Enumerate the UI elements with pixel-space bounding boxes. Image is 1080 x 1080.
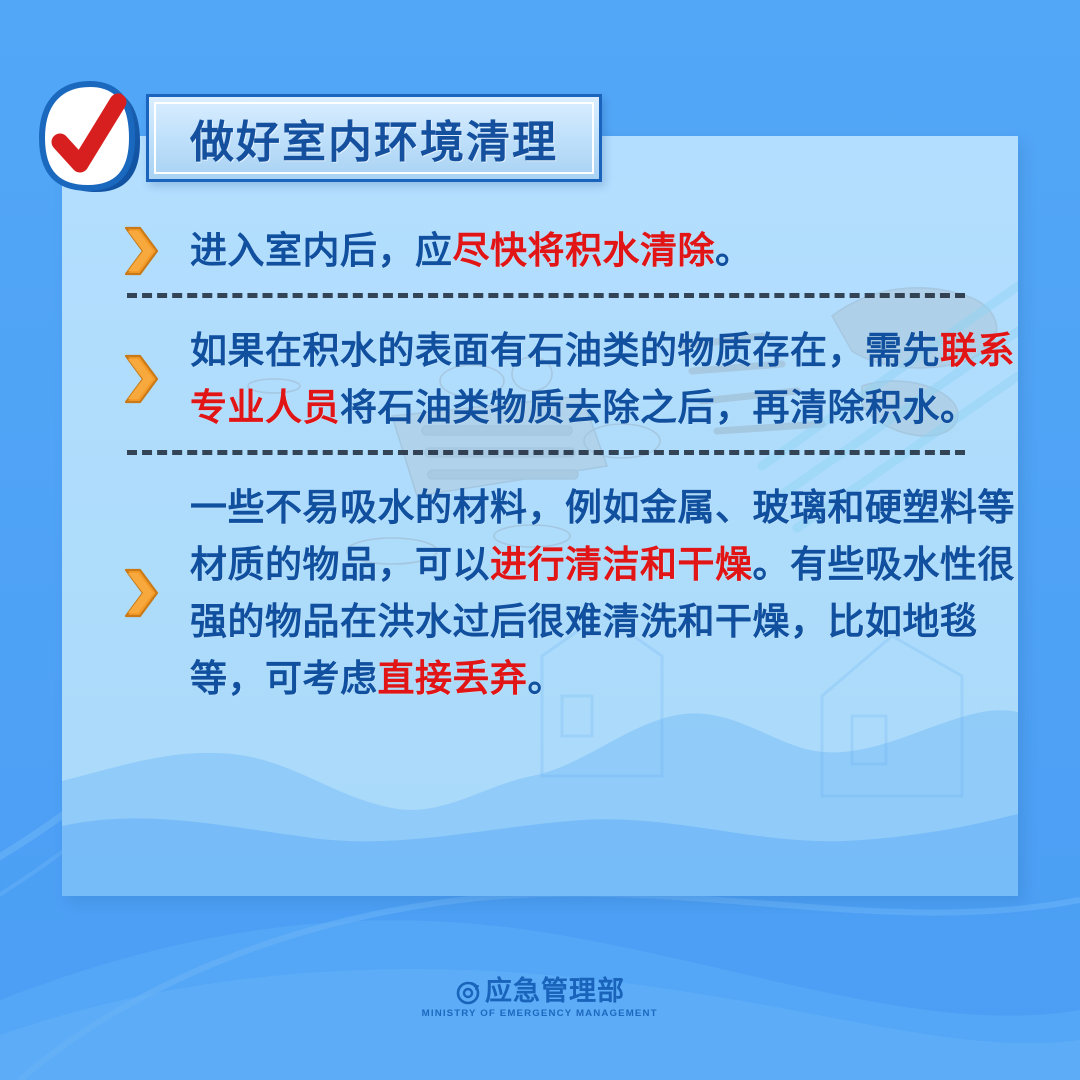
bullet-2-seg-0: 如果在积水的表面有石油类的物质存在，需先 (190, 330, 940, 371)
divider-1 (127, 293, 965, 298)
bullet-3-seg-3: 直接丢弃 (378, 658, 528, 699)
poster-root: 做好室内环境清理 进入室内后，应尽快将积水清除。 如果在积水的表面有石油类的物质… (0, 0, 1080, 1080)
bullet-text-3: 一些不易吸水的材料，例如金属、玻璃和硬塑料等材质的物品，可以进行清洁和干燥。有些… (190, 479, 1018, 707)
bullet-2-seg-2: 将石油类物质去除之后，再清除积水。 (340, 387, 978, 428)
page-title: 做好室内环境清理 (149, 97, 599, 179)
title-banner: 做好室内环境清理 (146, 94, 602, 182)
logo-org-name-en: MINISTRY OF EMERGENCY MANAGEMENT (422, 1008, 658, 1019)
footer-logo: 应急管理部 MINISTRY OF EMERGENCY MANAGEMENT (0, 978, 1080, 1019)
chevron-right-icon (120, 353, 160, 405)
logo-wordmark: 应急管理部 (455, 978, 625, 1005)
bullet-3-seg-4: 。 (528, 658, 566, 699)
chevron-right-icon (120, 567, 160, 619)
bullet-1-seg-2: 。 (715, 230, 753, 271)
at-symbol-icon (455, 979, 481, 1005)
red-check-badge-icon (36, 80, 144, 198)
chevron-right-icon (120, 225, 160, 277)
bullet-1-seg-1: 尽快将积水清除 (453, 230, 716, 271)
logo-org-name: 应急管理部 (485, 978, 625, 1005)
bullet-list: 进入室内后，应尽快将积水清除。 如果在积水的表面有石油类的物质存在，需先联系专业… (62, 196, 1018, 707)
list-item: 一些不易吸水的材料，例如金属、玻璃和硬塑料等材质的物品，可以进行清洁和干燥。有些… (62, 469, 1018, 707)
bullet-1-seg-0: 进入室内后，应 (190, 230, 453, 271)
list-item: 如果在积水的表面有石油类的物质存在，需先联系专业人员将石油类物质去除之后，再清除… (62, 312, 1018, 436)
bullet-text-1: 进入室内后，应尽快将积水清除。 (190, 222, 1018, 279)
divider-2 (127, 450, 965, 455)
bullet-3-seg-1: 进行清洁和干燥 (490, 544, 753, 585)
bullet-text-2: 如果在积水的表面有石油类的物质存在，需先联系专业人员将石油类物质去除之后，再清除… (190, 322, 1018, 436)
list-item: 进入室内后，应尽快将积水清除。 (62, 196, 1018, 279)
